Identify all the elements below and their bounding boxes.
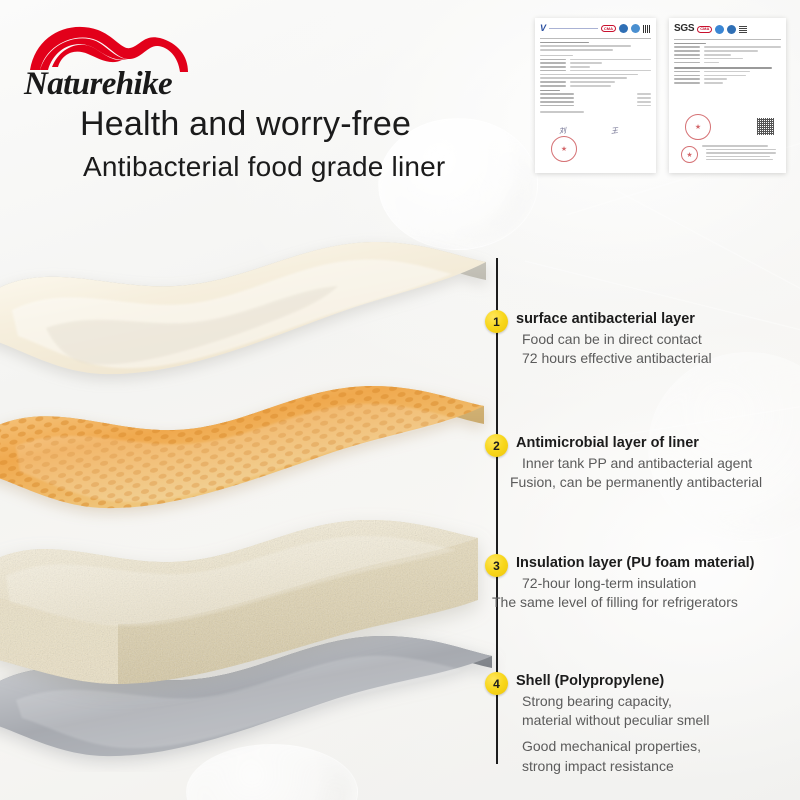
- page-subtitle: Antibacterial food grade liner: [83, 150, 445, 184]
- annotation-list: 1 surface antibacterial layer Food can b…: [496, 256, 800, 776]
- annotation-4-desc-1: Strong bearing capacity,: [522, 692, 800, 712]
- certificate-thumbnail-left[interactable]: V CMA 刘 王: [535, 18, 656, 173]
- annotation-3-title: Insulation layer (PU foam material): [516, 554, 800, 574]
- qr-block-icon: [643, 25, 651, 33]
- annotation-4-body: Shell (Polypropylene) Strong bearing cap…: [516, 672, 800, 777]
- badge-number-2[interactable]: 2: [485, 434, 508, 457]
- annotation-item-4[interactable]: 4 Shell (Polypropylene) Strong bearing c…: [485, 672, 800, 777]
- cert-right-logo-row: SGS CMA: [669, 18, 786, 37]
- naturehike-logo: Naturehike: [18, 14, 208, 100]
- cert-right-text-block: [669, 42, 786, 87]
- annotation-3-desc-2: The same level of filling for refrigerat…: [492, 593, 800, 613]
- annotation-2-desc-1: Inner tank PP and antibacterial agent: [522, 454, 800, 474]
- headline-block: Health and worry-free Antibacterial food…: [80, 104, 445, 184]
- layer-surface-antibacterial: [0, 242, 486, 374]
- cma-mark-icon: CMA: [601, 25, 616, 32]
- sgs-logo-icon: SGS: [674, 24, 694, 34]
- cert-left-signature-2: 王: [610, 126, 618, 137]
- badge-number-1[interactable]: 1: [485, 310, 508, 333]
- cert-right-qr-code: [757, 118, 774, 135]
- annotation-item-3[interactable]: 3 Insulation layer (PU foam material) 72…: [485, 554, 800, 613]
- cert-left-divider: [540, 38, 651, 39]
- cnas-mark-icon: [619, 24, 628, 33]
- cert-left-text-block: [535, 41, 656, 117]
- certificate-thumbnail-right[interactable]: SGS CMA: [669, 18, 786, 173]
- annotation-2-body: Antimicrobial layer of liner Inner tank …: [516, 434, 800, 493]
- ilac-mra-mark-icon: [631, 24, 640, 33]
- annotation-1-body: surface antibacterial layer Food can be …: [516, 310, 800, 369]
- cma-mark-icon: CMA: [697, 26, 712, 33]
- annotation-item-2[interactable]: 2 Antimicrobial layer of liner Inner tan…: [485, 434, 800, 493]
- iso-mark-icon: [739, 25, 747, 33]
- cert-right-fineprint: [701, 148, 781, 164]
- v-accreditation-icon: V: [540, 24, 546, 33]
- exploded-layer-stack: [0, 232, 506, 772]
- cert-left-red-seal: [551, 136, 577, 162]
- annotation-2-desc-2: Fusion, can be permanently antibacterial: [510, 473, 800, 493]
- cert-left-logo-row: V CMA: [535, 18, 656, 36]
- ilac-mra-mark-icon: [727, 25, 736, 34]
- annotation-4-desc-4: strong impact resistance: [522, 757, 800, 777]
- annotation-3-body: Insulation layer (PU foam material) 72-h…: [516, 554, 800, 613]
- cert-right-red-seal-2: [681, 146, 698, 163]
- cert-right-red-seal: [685, 114, 711, 140]
- cnas-mark-icon: [715, 25, 724, 34]
- page-title: Health and worry-free: [80, 104, 445, 144]
- layer-antimicrobial-liner: [0, 386, 484, 508]
- annotation-2-title: Antimicrobial layer of liner: [516, 434, 800, 454]
- badge-number-3[interactable]: 3: [485, 554, 508, 577]
- infographic-canvas: Naturehike Health and worry-free Antibac…: [0, 0, 800, 800]
- cert-left-signature-1: 刘: [558, 126, 566, 137]
- cert-right-divider: [674, 39, 781, 40]
- logo-wordmark: Naturehike: [23, 66, 172, 100]
- annotation-4-desc-2: material without peculiar smell: [522, 711, 800, 731]
- annotation-4-desc-3: Good mechanical properties,: [522, 737, 800, 757]
- annotation-3-desc-1: 72-hour long-term insulation: [522, 574, 800, 594]
- badge-number-4[interactable]: 4: [485, 672, 508, 695]
- annotation-1-desc-2: 72 hours effective antibacterial: [522, 349, 800, 369]
- annotation-4-title: Shell (Polypropylene): [516, 672, 800, 692]
- annotation-item-1[interactable]: 1 surface antibacterial layer Food can b…: [485, 310, 800, 369]
- annotation-1-title: surface antibacterial layer: [516, 310, 800, 330]
- annotation-1-desc-1: Food can be in direct contact: [522, 330, 800, 350]
